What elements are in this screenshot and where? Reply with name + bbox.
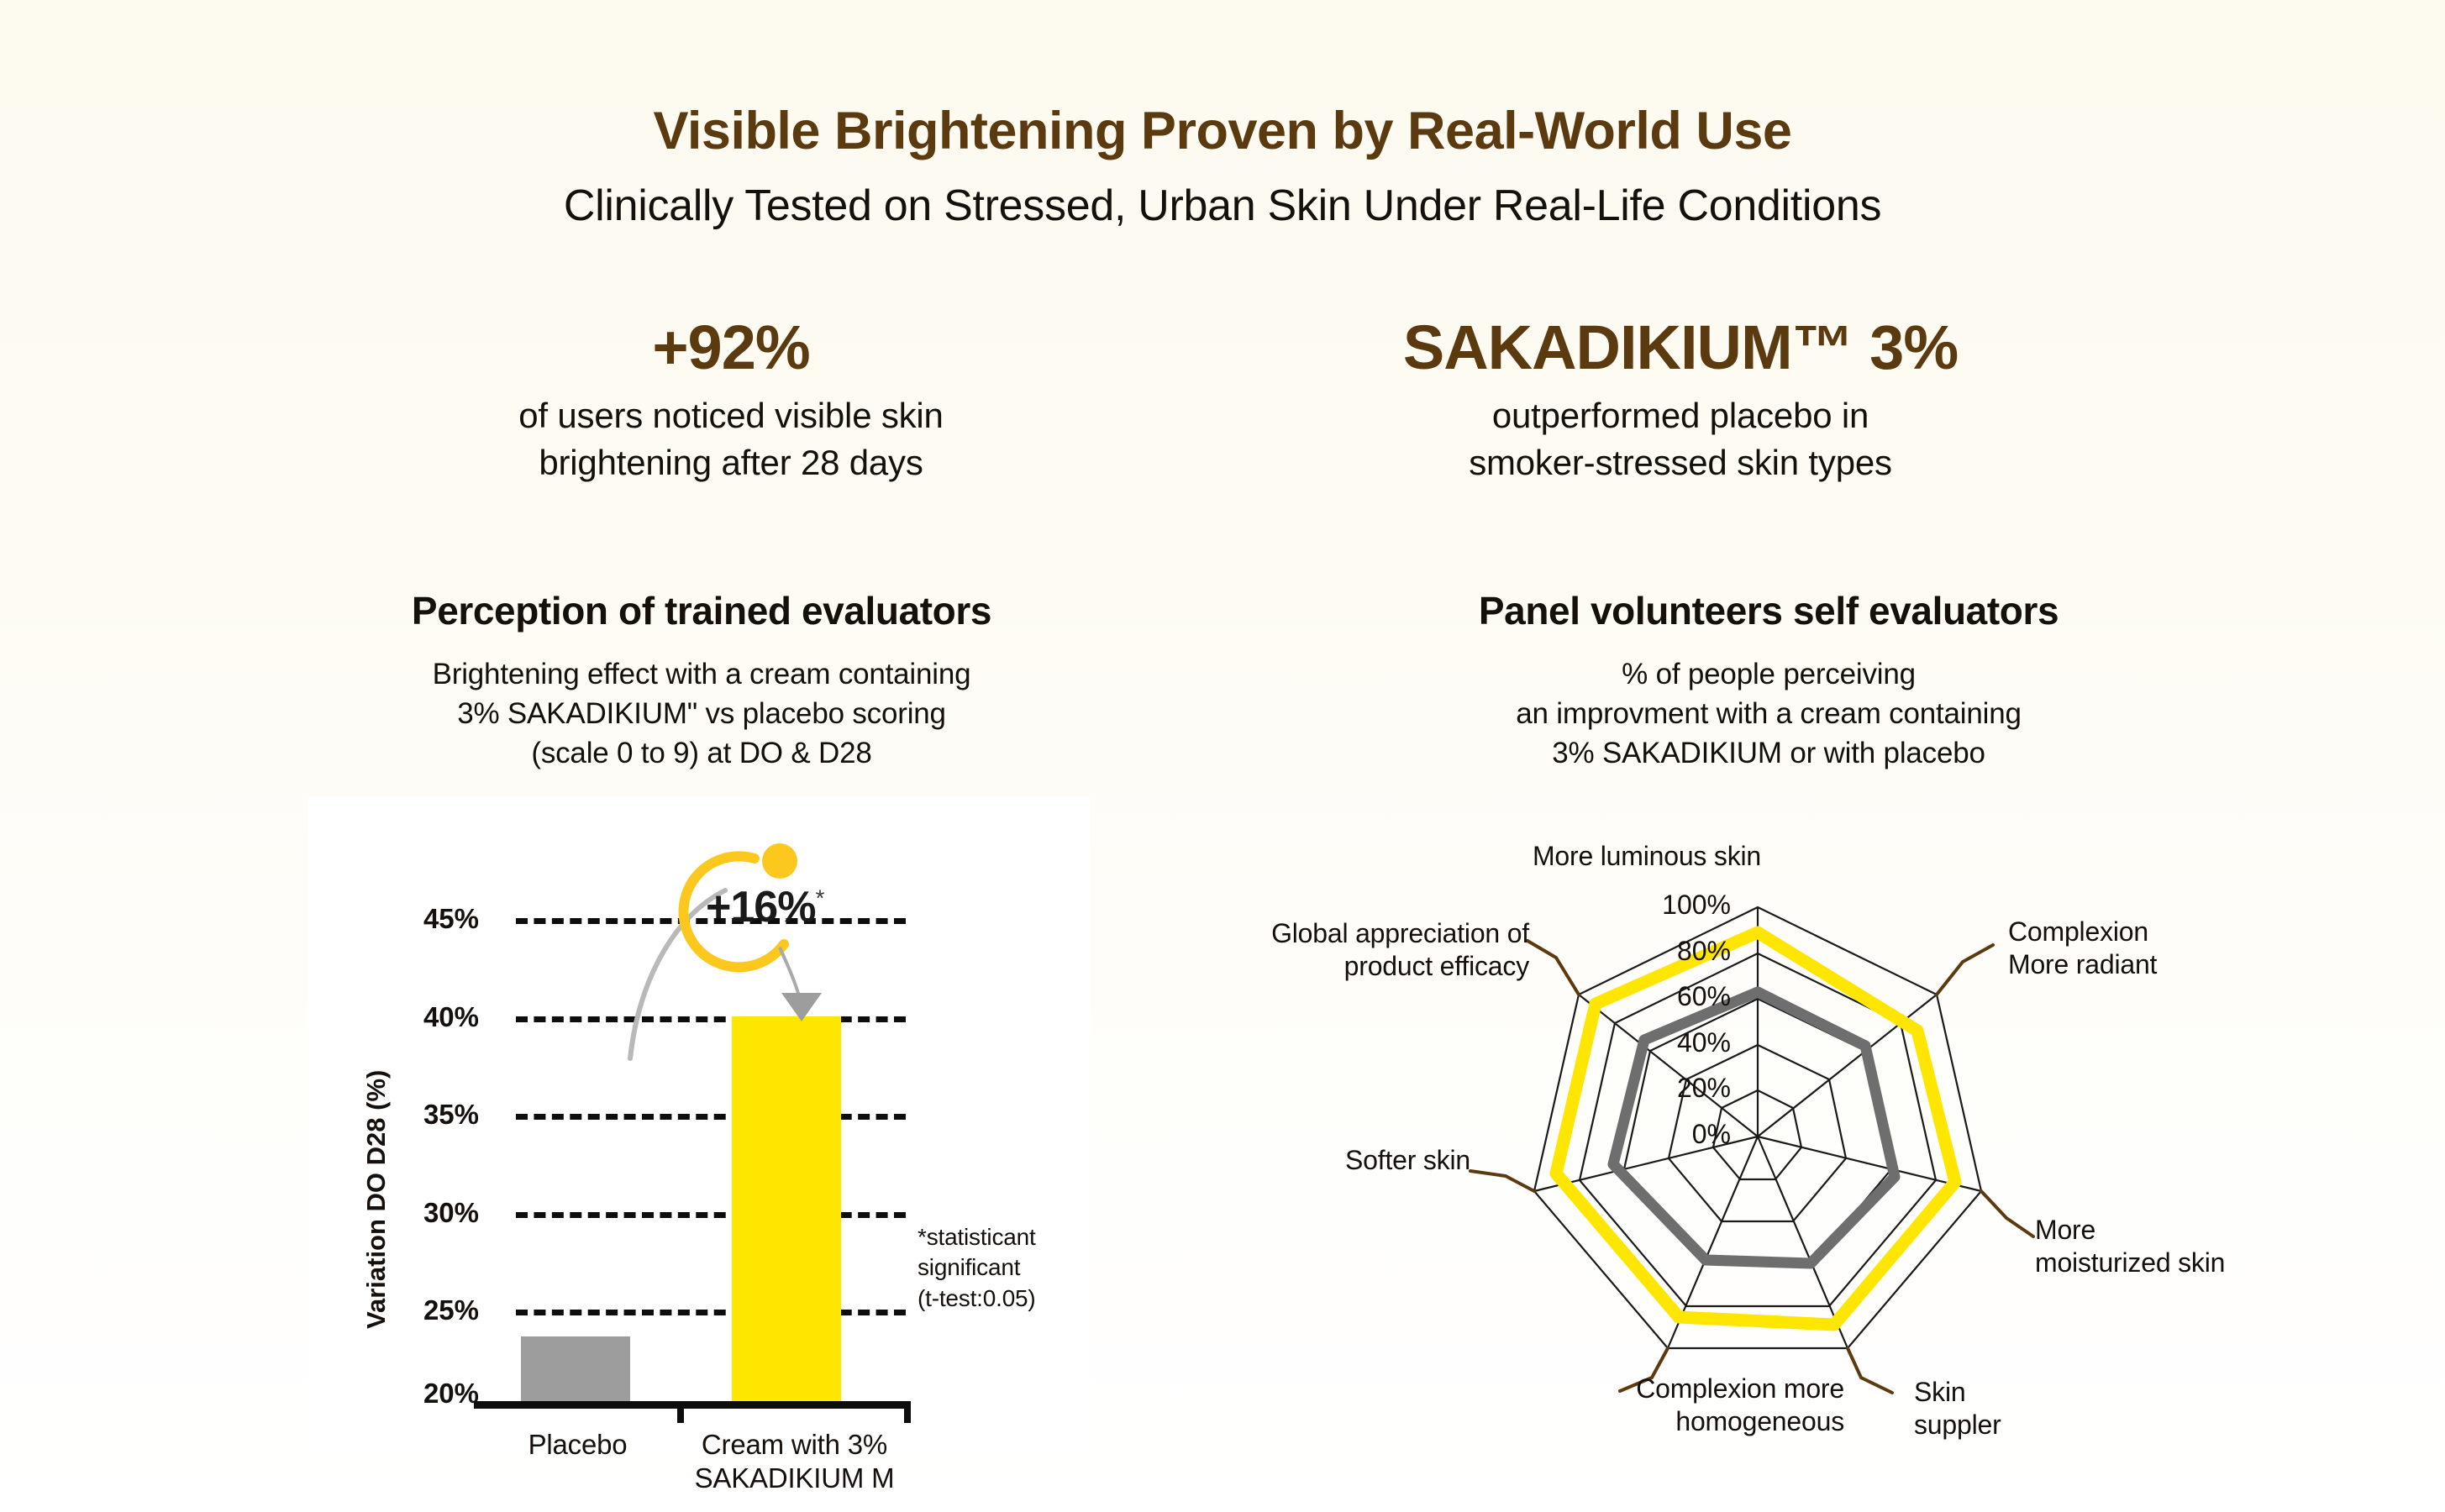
radar-label-global-line1: Global appreciation of: [1218, 917, 1529, 950]
radar-rtick-40: 40%: [1622, 1027, 1731, 1058]
radar-label-moisturized-line1: More: [2035, 1214, 2225, 1247]
annotation-dot: [762, 843, 797, 879]
stat-caption-left-line2: brightening after 28 days: [227, 439, 1235, 486]
stat-value-right: SAKADIKIUM™ 3%: [1176, 315, 2185, 381]
radar-rtick-0: 0%: [1622, 1119, 1731, 1150]
stat-caption-right-line2: smoker-stressed skin types: [1176, 439, 2185, 486]
radar-axis-label-complexion-more-radiant: Complexion More radiant: [2008, 916, 2157, 981]
bar-chart-ytick-35: 35%: [386, 1099, 479, 1131]
radar-rtick-20: 20%: [1622, 1073, 1731, 1104]
bar-chart-ytick-25: 25%: [386, 1294, 479, 1326]
bar-chart-x-axis: [474, 1401, 911, 1409]
bar-chart-footnote-line2: significant: [918, 1252, 1036, 1283]
bar-chart-gridline-30: [516, 1212, 906, 1218]
stat-caption-left: of users noticed visible skin brightenin…: [227, 392, 1235, 486]
radar-label-suppler-line2: suppler: [1914, 1409, 2001, 1441]
bar-chart-delta-value: +16%: [706, 883, 815, 932]
poster-stage: Visible Brightening Proven by Real-World…: [0, 0, 2445, 1512]
bar-chart-footnote-line3: (t-test:0.05): [918, 1284, 1036, 1314]
stat-value-left: +92%: [227, 315, 1235, 381]
radar-label-homogeneous-line1: Complexion more: [1617, 1373, 1844, 1405]
radar-axis-label-more-moisturized-skin: More moisturized skin: [2035, 1214, 2225, 1279]
radar-grid: [1534, 907, 1981, 1348]
bar-chart-gridline-35: [516, 1114, 906, 1120]
radar-label-homogeneous-line2: homogeneous: [1617, 1405, 1844, 1438]
page-subtitle: Clinically Tested on Stressed, Urban Ski…: [0, 181, 2445, 231]
annotation-leader-line: [780, 948, 799, 996]
radar-label-complexion-line2: More radiant: [2008, 948, 2157, 981]
right-panel-desc-line1: % of people perceiving: [1265, 655, 2273, 695]
radar-axis-label-more-luminous-skin: More luminous skin: [1521, 840, 1773, 873]
bar-chart-delta-star: *: [815, 885, 823, 911]
stat-caption-right: outperformed placebo in smoker-stressed …: [1176, 392, 2185, 486]
left-panel-description: Brightening effect with a cream containi…: [197, 655, 1206, 774]
stat-block-left: +92% of users noticed visible skin brigh…: [227, 315, 1235, 486]
right-panel-description: % of people perceiving an improvment wit…: [1265, 655, 2273, 774]
radar-leader-softer: [1470, 1171, 1534, 1191]
bar-chart-annotation-graphic: [613, 840, 966, 1075]
radar-leader-complexion-radiant: [1937, 945, 1993, 995]
bar-chart-gridline-25: [516, 1310, 906, 1315]
stat-caption-left-line1: of users noticed visible skin: [227, 392, 1235, 439]
left-panel-desc-line2: 3% SAKADIKIUM" vs placebo scoring: [197, 695, 1206, 734]
radar-leader-suppler: [1848, 1348, 1892, 1393]
left-panel-heading: Perception of trained evaluators: [197, 588, 1206, 633]
radar-label-global-line2: product efficacy: [1218, 950, 1529, 983]
radar-axis-label-softer-skin: Softer skin: [1201, 1144, 1470, 1177]
bar-chart-footnote: *statisticant significant (t-test:0.05): [918, 1222, 1036, 1314]
annotation-arrowhead-icon: [781, 993, 822, 1021]
bar-chart-ytick-45: 45%: [386, 903, 479, 935]
right-panel-heading: Panel volunteers self evaluators: [1265, 588, 2273, 633]
radar-rtick-80: 80%: [1622, 936, 1731, 967]
bar-chart-category-cream: Cream with 3%SAKADIKIUM M: [683, 1428, 906, 1496]
right-panel-desc-line3: 3% SAKADIKIUM or with placebo: [1265, 734, 2273, 774]
stat-block-right: SAKADIKIUM™ 3% outperformed placebo in s…: [1176, 315, 2185, 486]
bar-placebo: [521, 1336, 630, 1404]
bar-chart-footnote-line1: *statisticant: [918, 1222, 1036, 1252]
radar-axis-label-global-appreciation: Global appreciation of product efficacy: [1218, 917, 1529, 983]
bar-chart-axis-tick-mid: [677, 1401, 684, 1423]
left-panel-desc-line3: (scale 0 to 9) at DO & D28: [197, 734, 1206, 774]
stat-caption-right-line1: outperformed placebo in: [1176, 392, 2185, 439]
bar-chart-ytick-20: 20%: [386, 1378, 479, 1410]
page-title: Visible Brightening Proven by Real-World…: [0, 101, 2445, 161]
radar-axis-label-complexion-more-homogeneous: Complexion more homogeneous: [1617, 1373, 1844, 1438]
left-panel-desc-line1: Brightening effect with a cream containi…: [197, 655, 1206, 695]
bar-chart-delta-label: +16%*: [706, 882, 823, 932]
radar-leader-moisturized: [1981, 1191, 2033, 1236]
radar-leader-global: [1527, 941, 1579, 995]
radar-label-moisturized-line2: moisturized skin: [2035, 1247, 2225, 1279]
radar-label-complexion-line1: Complexion: [2008, 916, 2157, 948]
right-panel-desc-line2: an improvment with a cream containing: [1265, 695, 2273, 734]
radar-axis-label-skin-suppler: Skin suppler: [1914, 1376, 2001, 1441]
radar-rtick-100: 100%: [1622, 890, 1731, 921]
radar-rtick-60: 60%: [1622, 981, 1731, 1012]
bar-chart-ytick-40: 40%: [386, 1001, 479, 1033]
radar-label-suppler-line1: Skin: [1914, 1376, 2001, 1409]
bar-chart-ytick-30: 30%: [386, 1197, 479, 1229]
bar-chart-axis-tick-right: [904, 1401, 911, 1423]
bar-chart-category-placebo: Placebo: [479, 1428, 676, 1462]
